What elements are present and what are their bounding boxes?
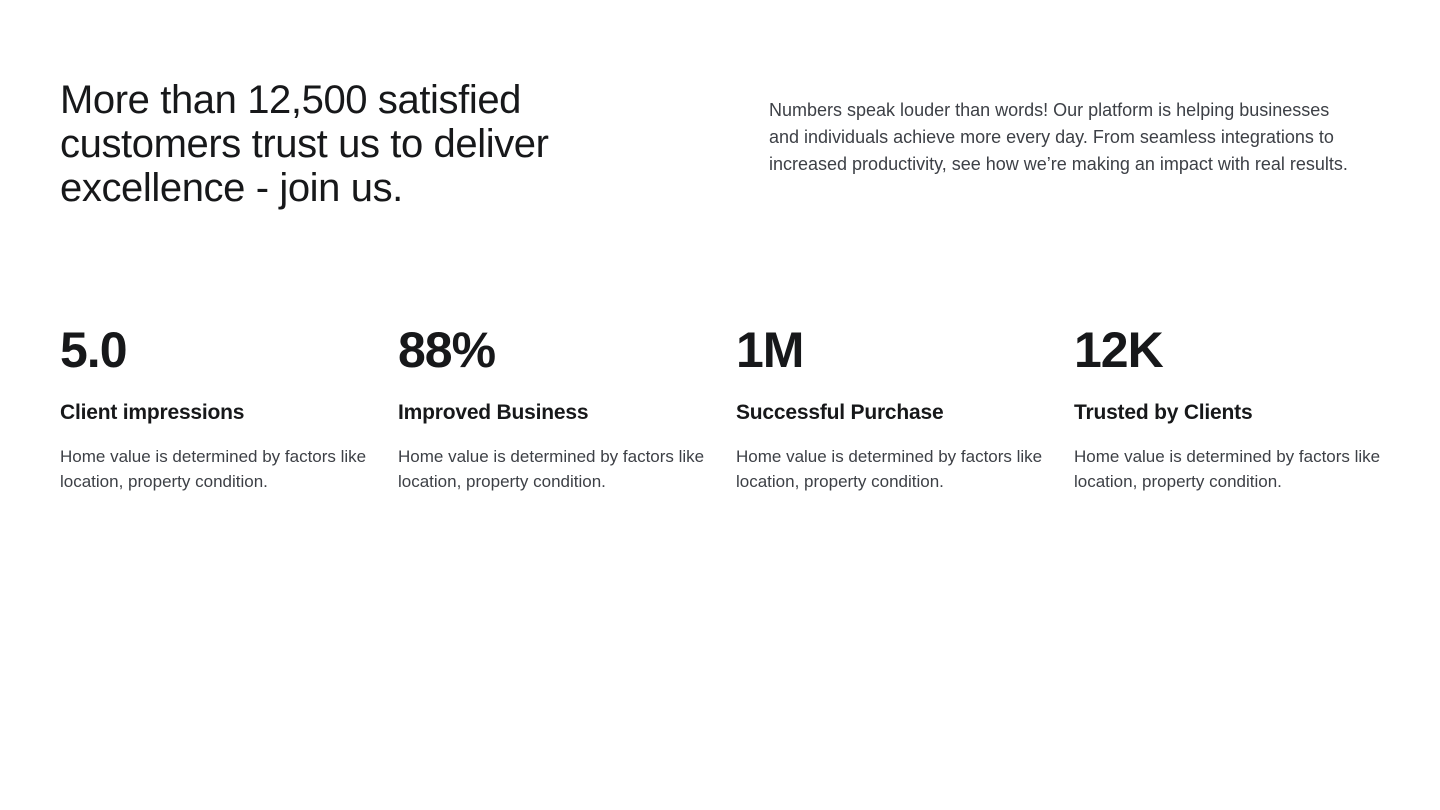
stats-grid: 5.0 Client impressions Home value is det…: [60, 322, 1380, 494]
intro-heading-column: More than 12,500 satisfied customers tru…: [60, 78, 769, 210]
page-title: More than 12,500 satisfied customers tru…: [60, 78, 580, 210]
stat-value: 88%: [398, 322, 736, 378]
stat-card-successful-purchase: 1M Successful Purchase Home value is det…: [736, 322, 1074, 494]
stat-value: 5.0: [60, 322, 398, 378]
intro-block: More than 12,500 satisfied customers tru…: [60, 78, 1380, 210]
stat-description: Home value is determined by factors like…: [398, 444, 708, 494]
stat-label: Client impressions: [60, 400, 398, 426]
intro-paragraph: Numbers speak louder than words! Our pla…: [769, 97, 1359, 178]
stat-label: Successful Purchase: [736, 400, 1074, 426]
stat-card-client-impressions: 5.0 Client impressions Home value is det…: [60, 322, 398, 494]
stat-label: Trusted by Clients: [1074, 400, 1412, 426]
stat-card-improved-business: 88% Improved Business Home value is dete…: [398, 322, 736, 494]
stats-section-page: More than 12,500 satisfied customers tru…: [0, 0, 1440, 810]
stat-card-trusted-by-clients: 12K Trusted by Clients Home value is det…: [1074, 322, 1412, 494]
intro-paragraph-column: Numbers speak louder than words! Our pla…: [769, 78, 1380, 178]
stat-label: Improved Business: [398, 400, 736, 426]
stat-description: Home value is determined by factors like…: [1074, 444, 1384, 494]
stat-description: Home value is determined by factors like…: [60, 444, 370, 494]
stat-value: 1M: [736, 322, 1074, 378]
stat-description: Home value is determined by factors like…: [736, 444, 1046, 494]
stat-value: 12K: [1074, 322, 1412, 378]
